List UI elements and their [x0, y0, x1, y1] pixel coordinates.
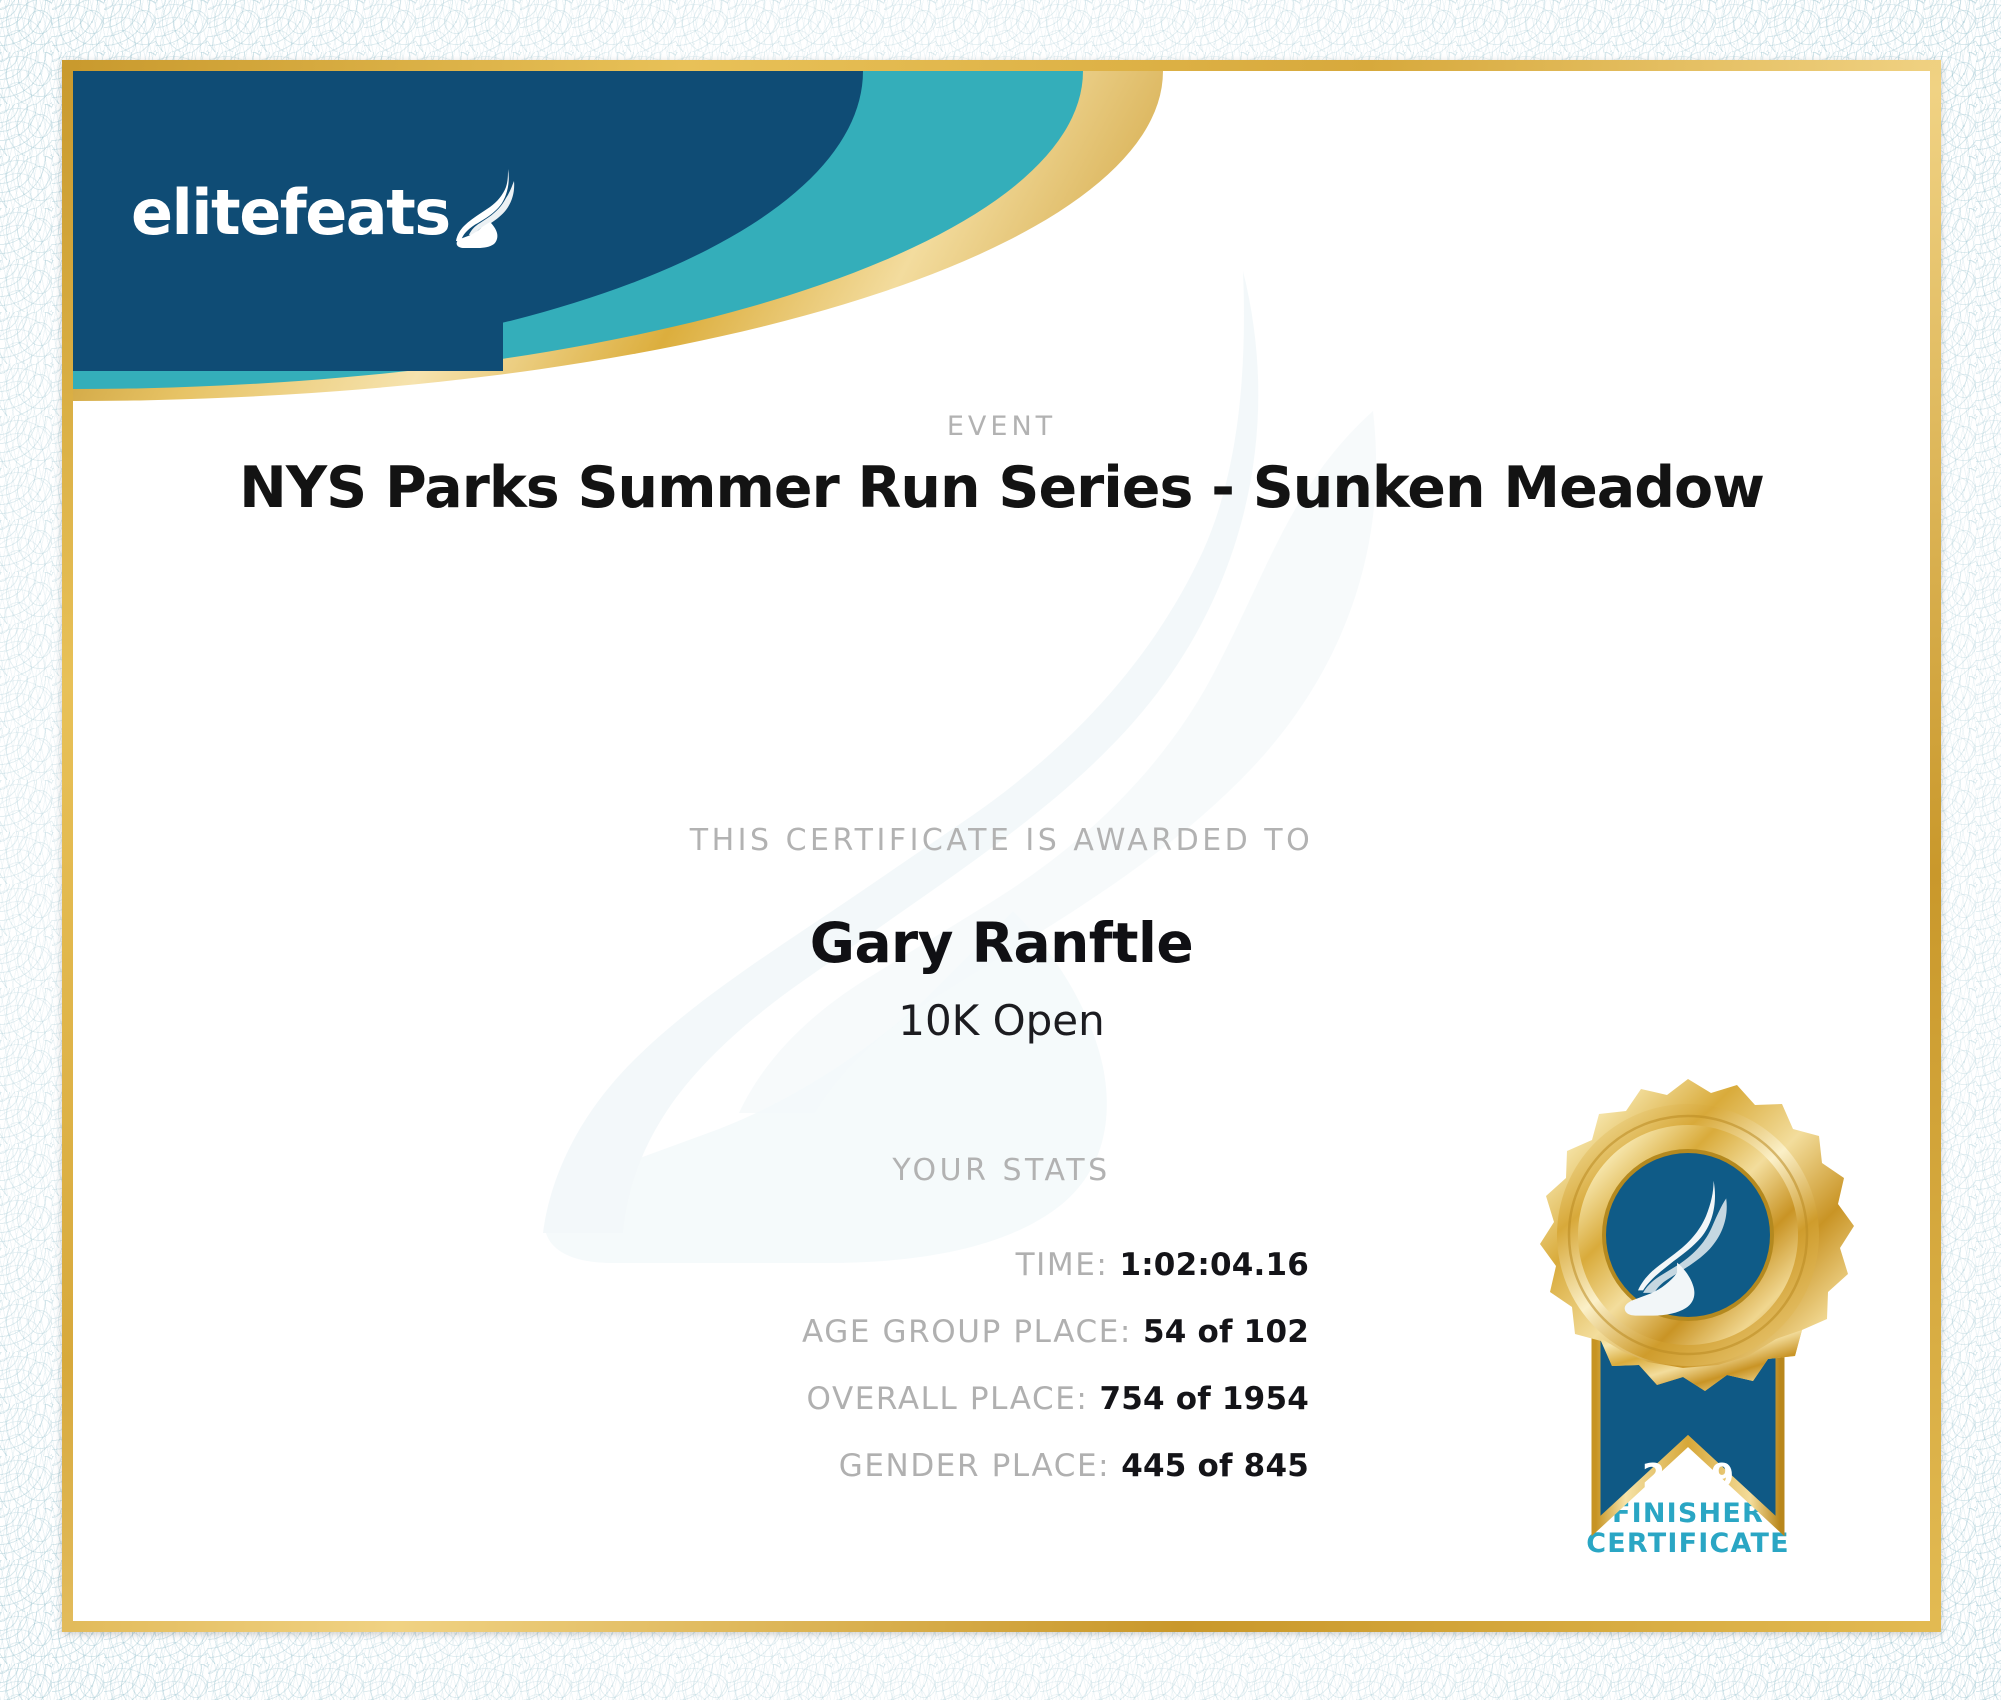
- logo-wordmark: elitefeats: [131, 182, 450, 244]
- finisher-medal-badge: 2019: [1518, 1071, 1858, 1541]
- stat-label: AGE GROUP PLACE:: [802, 1314, 1132, 1350]
- stat-label: TIME:: [1016, 1247, 1109, 1283]
- stat-row-age-group-place: AGE GROUP PLACE: 54 of 102: [73, 1314, 1309, 1381]
- stat-value: 445 of 845: [1121, 1448, 1309, 1484]
- medal-year: 2019: [1642, 1456, 1734, 1495]
- stat-label: OVERALL PLACE:: [806, 1381, 1088, 1417]
- recipient-name: Gary Ranftle: [73, 911, 1930, 975]
- race-division: 10K Open: [73, 996, 1930, 1045]
- certificate-page: elitefeats: [0, 0, 2001, 1700]
- awarded-to-label: THIS CERTIFICATE IS AWARDED TO: [73, 823, 1930, 858]
- stat-label: GENDER PLACE:: [839, 1448, 1110, 1484]
- stat-row-overall-place: OVERALL PLACE: 754 of 1954: [73, 1381, 1309, 1448]
- event-kicker-label: EVENT: [73, 411, 1930, 442]
- stat-value: 1:02:04.16: [1119, 1247, 1309, 1283]
- certificate-content: EVENT NYS Parks Summer Run Series - Sunk…: [73, 71, 1930, 1621]
- stat-row-gender-place: GENDER PLACE: 445 of 845: [73, 1448, 1309, 1515]
- certificate-paper: elitefeats: [73, 71, 1930, 1621]
- gold-certificate-frame: elitefeats: [62, 60, 1941, 1632]
- event-title: NYS Parks Summer Run Series - Sunken Mea…: [73, 455, 1930, 521]
- stat-value: 54 of 102: [1143, 1314, 1309, 1350]
- stats-list: TIME: 1:02:04.16 AGE GROUP PLACE: 54 of …: [73, 1247, 1309, 1515]
- stat-value: 754 of 1954: [1099, 1381, 1309, 1417]
- winged-foot-icon: [452, 167, 526, 253]
- stat-row-time: TIME: 1:02:04.16: [73, 1247, 1309, 1314]
- elitefeats-logo: elitefeats: [131, 167, 526, 259]
